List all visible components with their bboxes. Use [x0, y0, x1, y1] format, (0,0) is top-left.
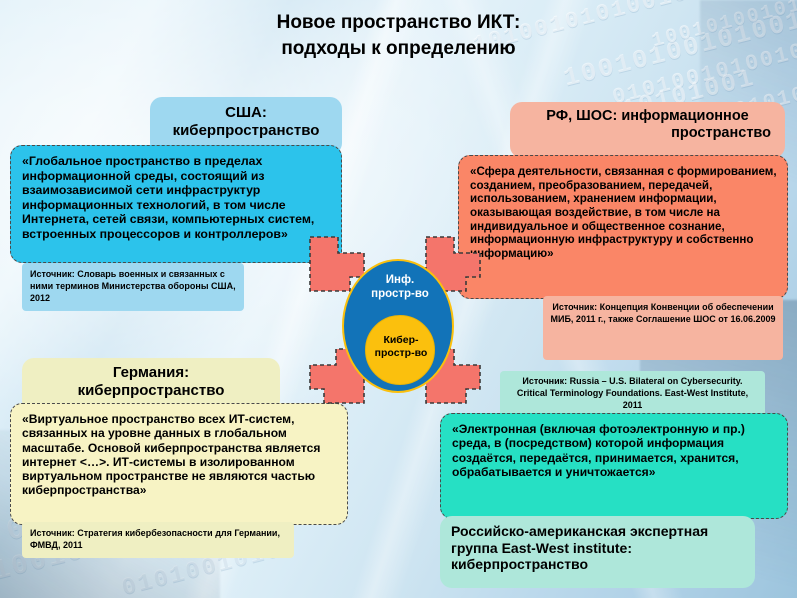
cyberspace-circle: Кибер- простр-во: [365, 315, 435, 385]
page-title: Новое пространство ИКТ: подходы к опреде…: [0, 10, 797, 61]
rf-header-line2: пространство: [510, 125, 785, 142]
information-space-label: Инф. простр-во: [344, 273, 456, 301]
rf-source-card: Источник: Концепция Конвенции об обеспеч…: [543, 296, 783, 360]
information-space-circle: Инф. простр-во Кибер- простр-во: [342, 259, 454, 393]
page-title-line1: Новое пространство ИКТ:: [0, 10, 797, 36]
rf-header-line1: РФ, ШОС: информационное: [510, 108, 785, 125]
eastwest-source-card: Источник: Russia – U.S. Bilateral on Cyb…: [500, 371, 765, 417]
rf-header-card: РФ, ШОС: информационное пространство: [510, 102, 785, 158]
page-title-line2: подходы к определению: [0, 36, 797, 62]
usa-definition-card: «Глобальное пространство в пределах инфо…: [10, 145, 342, 263]
eastwest-header-card: Российско-американская экспертная группа…: [440, 516, 755, 588]
usa-source-card: Источник: Словарь военных и связанных с …: [22, 263, 244, 311]
germany-definition-card: «Виртуальное пространство всех ИТ-систем…: [10, 403, 348, 525]
rf-definition-card: «Сфера деятельности, связанная с формиро…: [458, 155, 788, 299]
cyberspace-label-line2: простр-во: [366, 347, 436, 360]
information-space-label-line1: Инф.: [344, 273, 456, 287]
cyberspace-label: Кибер- простр-во: [366, 334, 436, 360]
eastwest-definition-card: «Электронная (включая фотоэлектронную и …: [440, 413, 788, 519]
slide-canvas: 101001010100101 1001010010100110 0101001…: [0, 0, 797, 598]
usa-header-line1: США:: [150, 104, 342, 122]
usa-header-line2: киберпространство: [150, 122, 342, 140]
information-space-label-line2: простр-во: [344, 287, 456, 301]
cyberspace-label-line1: Кибер-: [366, 334, 436, 347]
germany-header-line1: Германия:: [22, 364, 280, 382]
germany-source-card: Источник: Стратегия кибербезопасности дл…: [22, 522, 294, 558]
center-diagram: Инф. простр-во Кибер- простр-во: [310, 243, 485, 408]
germany-header-line2: киберпространство: [22, 382, 280, 400]
